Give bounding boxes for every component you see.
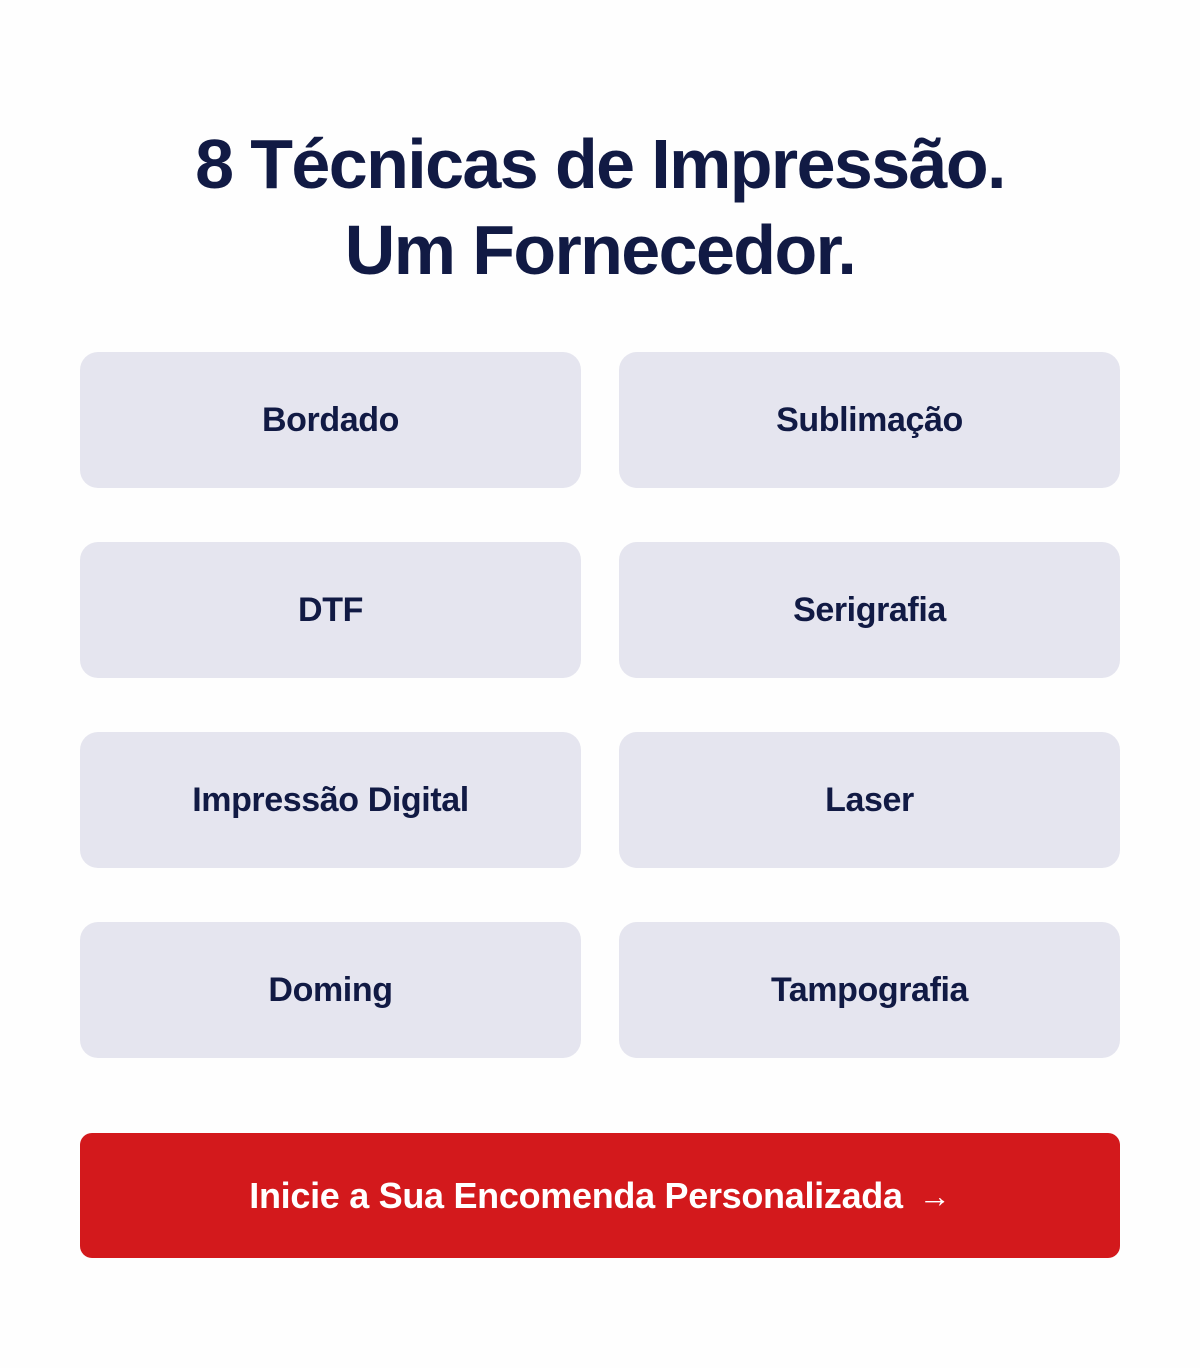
printing-techniques-grid: Bordado Sublimação DTF Serigrafia Impres…	[80, 352, 1120, 1058]
technique-label: Tampografia	[771, 970, 968, 1010]
technique-pill-doming[interactable]: Doming	[80, 922, 581, 1058]
cta-label: Inicie a Sua Encomenda Personalizada	[249, 1175, 902, 1217]
technique-pill-tampografia[interactable]: Tampografia	[619, 922, 1120, 1058]
promo-panel: 8 Técnicas de Impressão. Um Fornecedor. …	[0, 0, 1200, 1368]
technique-label: Doming	[268, 970, 392, 1010]
page-title-line-1: 8 Técnicas de Impressão.	[0, 121, 1200, 207]
technique-pill-impressao-digital[interactable]: Impressão Digital	[80, 732, 581, 868]
technique-pill-serigrafia[interactable]: Serigrafia	[619, 542, 1120, 678]
technique-label: DTF	[298, 590, 363, 630]
start-custom-order-button[interactable]: Inicie a Sua Encomenda Personalizada →	[80, 1133, 1120, 1258]
technique-label: Bordado	[262, 400, 399, 440]
technique-label: Sublimação	[776, 400, 963, 440]
technique-label: Serigrafia	[793, 590, 946, 630]
arrow-right-icon: →	[919, 1175, 951, 1217]
technique-pill-laser[interactable]: Laser	[619, 732, 1120, 868]
technique-label: Laser	[825, 780, 914, 820]
technique-pill-bordado[interactable]: Bordado	[80, 352, 581, 488]
technique-label: Impressão Digital	[192, 780, 469, 820]
technique-pill-dtf[interactable]: DTF	[80, 542, 581, 678]
technique-pill-sublimacao[interactable]: Sublimação	[619, 352, 1120, 488]
page-title-line-2: Um Fornecedor.	[0, 207, 1200, 293]
page-title: 8 Técnicas de Impressão. Um Fornecedor.	[0, 121, 1200, 293]
